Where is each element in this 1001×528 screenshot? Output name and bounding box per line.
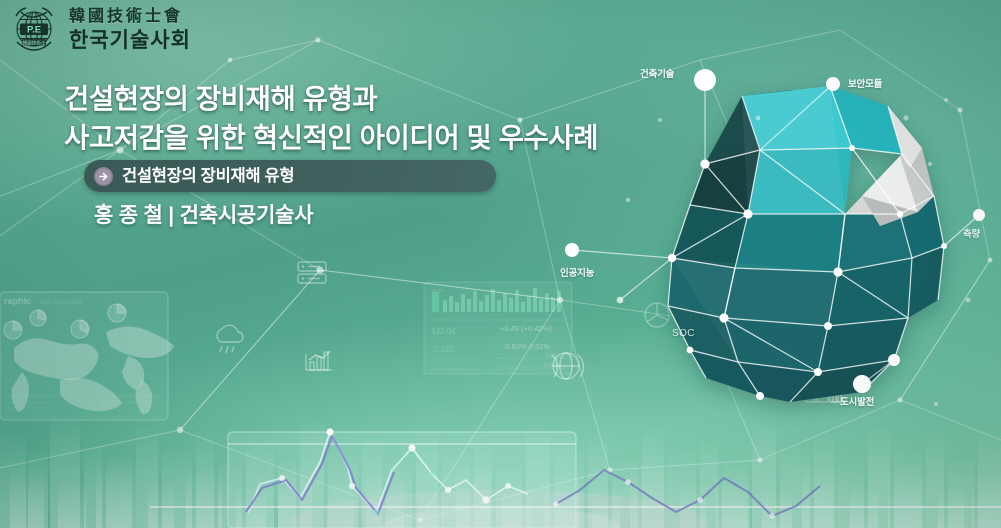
title-line-1: 건설현장의 장비재해 유형과 xyxy=(64,79,684,118)
organization-logo: P.E 韓國技術士 韓國技術士會 한국기술사회 xyxy=(8,4,191,56)
node-label-ai: 인공지능 xyxy=(560,265,594,279)
title-line-2: 사고저감을 위한 혁신적인 아이디어 및 우수사례 xyxy=(64,118,684,157)
page-title: 건설현장의 장비재해 유형과 사고저감을 위한 혁신적인 아이디어 및 우수사례 xyxy=(64,79,684,157)
presentation-slide: raphic type infographic xyxy=(0,0,1001,528)
pe-emblem-text: P.E xyxy=(27,24,41,35)
svg-text:韓國技術士: 韓國技術士 xyxy=(23,39,46,46)
arrow-right-circle-icon xyxy=(94,167,113,186)
node-label-urban-development: 도시발전 xyxy=(840,394,874,408)
logo-korean-text: 한국기술사회 xyxy=(69,29,191,50)
section-banner-label: 건설현장의 장비재해 유형 xyxy=(122,168,294,185)
node-label-architecture-tech: 건축기술 xyxy=(640,66,674,80)
node-label-security-module: 보안모듈 xyxy=(848,76,882,90)
section-banner[interactable]: 건설현장의 장비재해 유형 xyxy=(84,160,496,192)
node-label-surveying: 측량 xyxy=(963,226,980,240)
logo-hanja-text: 韓國技術士會 xyxy=(69,8,191,24)
logo-wordmark: 韓國技術士會 한국기술사회 xyxy=(69,8,191,53)
pe-globe-emblem-icon: P.E 韓國技術士 xyxy=(8,4,60,56)
node-label-soc: SOC xyxy=(672,328,695,339)
presenter-byline: 홍 종 철 | 건축시공기술사 xyxy=(94,199,313,229)
